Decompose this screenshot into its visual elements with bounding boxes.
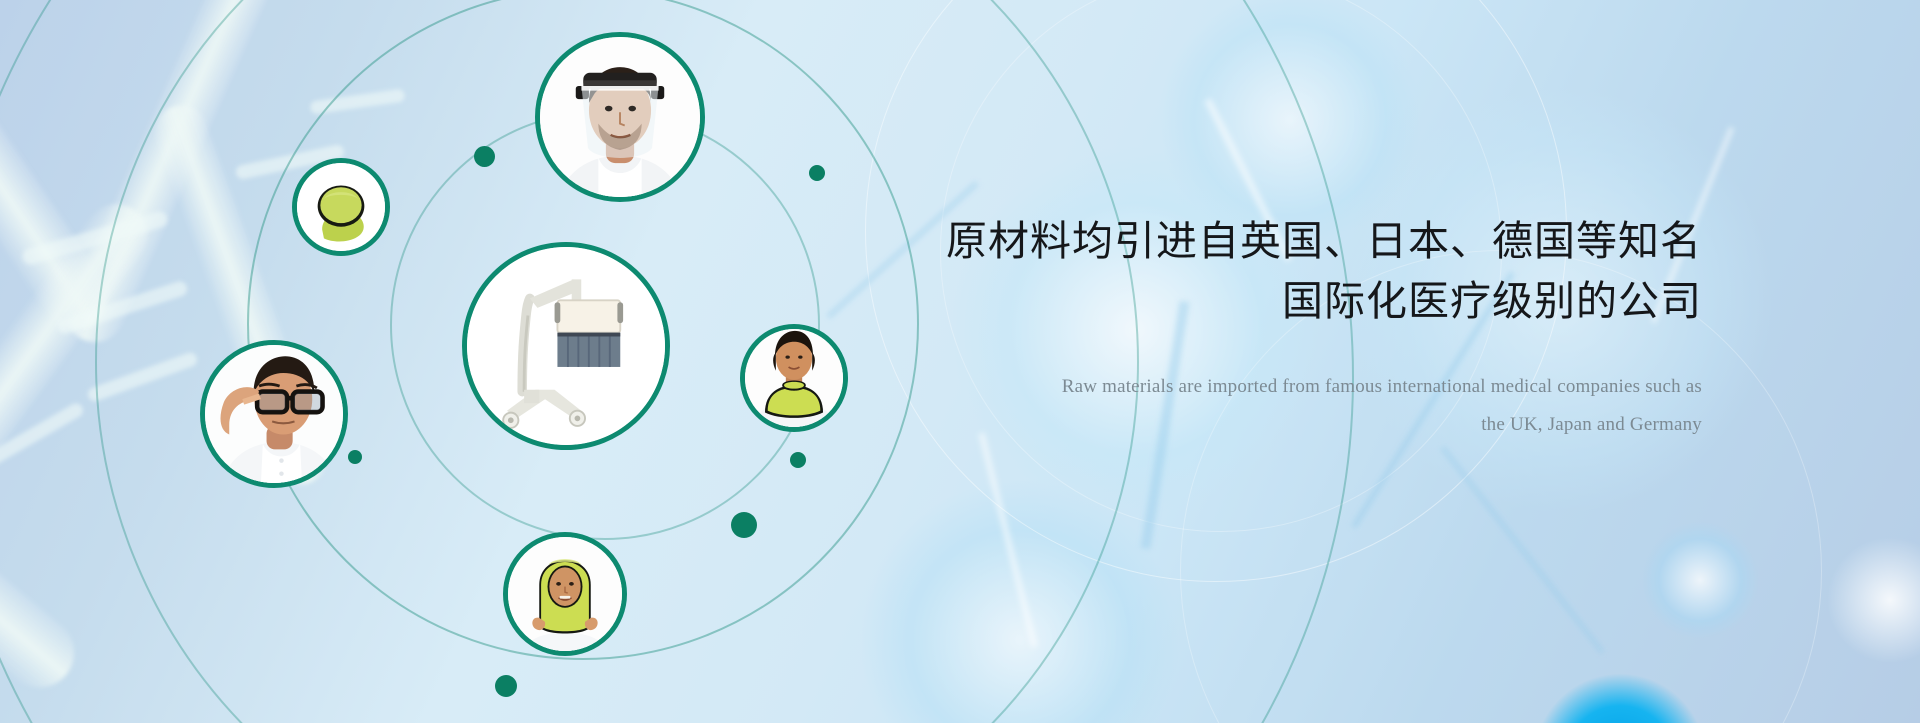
headline-block: 原材料均引进自英国、日本、德国等知名 国际化医疗级别的公司 <box>882 212 1702 330</box>
orbit-node-dot <box>348 450 362 464</box>
lead-cap-illustration <box>297 163 385 251</box>
bubble-lead-cap[interactable] <box>292 158 390 256</box>
bubble-protection-hood-woman[interactable] <box>503 532 627 656</box>
protection-hood-illustration <box>508 537 622 651</box>
orbit-node-dot <box>731 512 757 538</box>
subtitle-line-1: Raw materials are imported from famous i… <box>942 368 1702 406</box>
subtitle-block: Raw materials are imported from famous i… <box>942 368 1702 444</box>
orbit-node-dot <box>809 165 825 181</box>
mobile-shield-illustration <box>467 247 665 445</box>
orbit-node-dot <box>474 146 495 167</box>
face-shield-man-illustration <box>540 37 700 197</box>
orbit-node-dot <box>790 452 806 468</box>
lead-glasses-man-illustration <box>205 345 343 483</box>
thyroid-collar-illustration <box>745 329 843 427</box>
bubble-thyroid-collar-woman[interactable] <box>740 324 848 432</box>
headline-line-1: 原材料均引进自英国、日本、德国等知名 <box>882 212 1702 270</box>
orbit-node-dot <box>495 675 517 697</box>
subtitle-line-2: the UK, Japan and Germany <box>942 406 1702 444</box>
headline-line-2: 国际化医疗级别的公司 <box>882 272 1702 330</box>
bubble-lead-glasses-man[interactable] <box>200 340 348 488</box>
hero-banner: 原材料均引进自英国、日本、德国等知名 国际化医疗级别的公司 Raw materi… <box>0 0 1920 723</box>
bubble-mobile-radiation-shield[interactable] <box>462 242 670 450</box>
bubble-face-shield-man[interactable] <box>535 32 705 202</box>
